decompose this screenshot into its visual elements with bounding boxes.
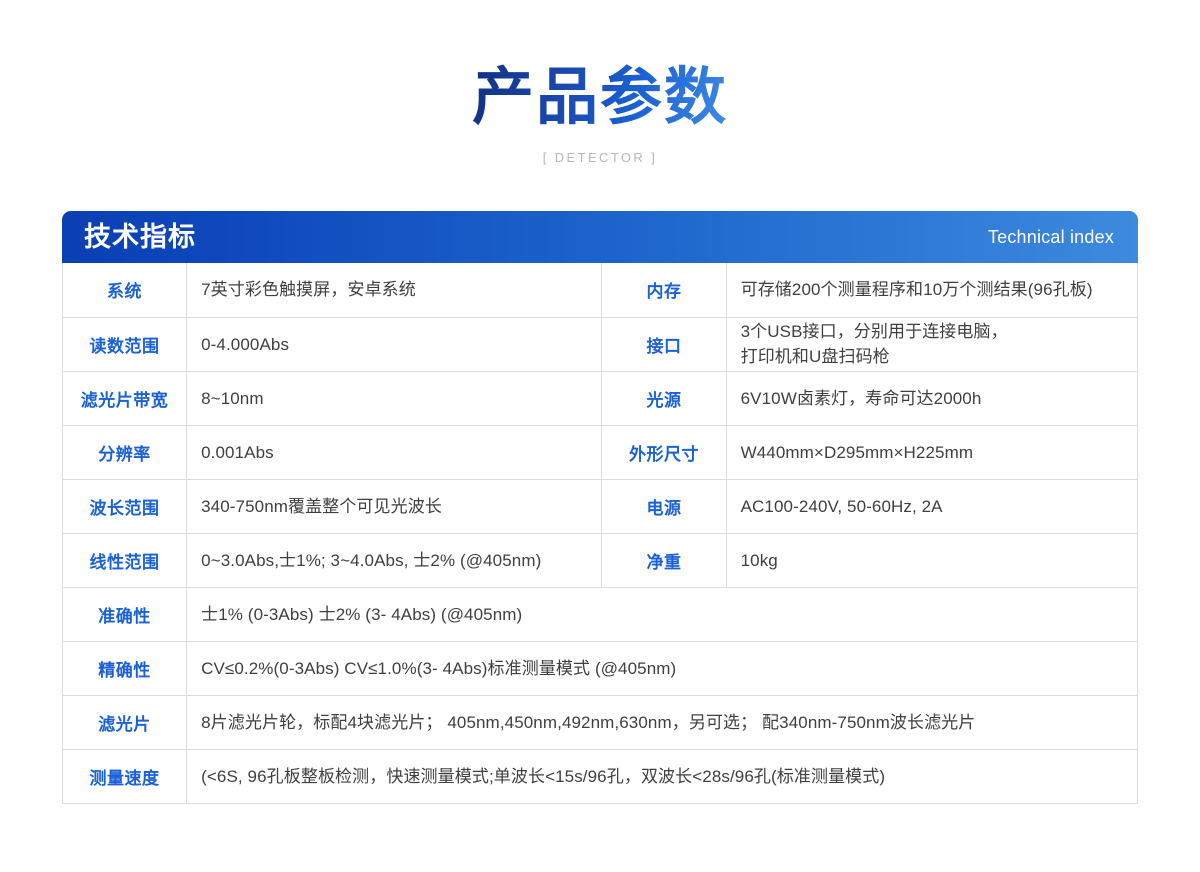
spec-key-full: 滤光片 [63, 695, 187, 749]
spec-value-line: 3个USB接口，分别用于连接电脑， [741, 319, 1137, 344]
table-row: 滤光片8片滤光片轮，标配4块滤光片； 405nm,450nm,492nm,630… [63, 695, 1138, 749]
banner-title-cn: 技术指标 [84, 222, 196, 252]
table-row: 准确性士1% (0-3Abs) 士2% (3- 4Abs) (@405nm) [63, 587, 1138, 641]
spec-value-line: CV≤0.2%(0-3Abs) CV≤1.0%(3- 4Abs)标准测量模式 (… [201, 656, 1137, 681]
page-heading: 产品参数 [ DETECTOR ] [0, 0, 1200, 166]
table-row: 滤光片带宽8~10nm光源6V10W卤素灯，寿命可达2000h [63, 371, 1138, 425]
spec-key-right: 净重 [602, 533, 726, 587]
spec-key-right: 光源 [602, 371, 726, 425]
page-title: 产品参数 [472, 62, 728, 134]
spec-value-line: 0~3.0Abs,士1%; 3~4.0Abs, 士2% (@405nm) [201, 548, 601, 573]
spec-table: 系统7英寸彩色触摸屏，安卓系统内存可存储200个测量程序和10万个测结果(96孔… [62, 263, 1138, 804]
spec-value-left: 8~10nm [187, 371, 602, 425]
spec-value-left: 7英寸彩色触摸屏，安卓系统 [187, 263, 602, 317]
spec-value-full: 士1% (0-3Abs) 士2% (3- 4Abs) (@405nm) [187, 587, 1138, 641]
spec-value-left: 0~3.0Abs,士1%; 3~4.0Abs, 士2% (@405nm) [187, 533, 602, 587]
table-row: 精确性CV≤0.2%(0-3Abs) CV≤1.0%(3- 4Abs)标准测量模… [63, 641, 1138, 695]
spec-value-full: 8片滤光片轮，标配4块滤光片； 405nm,450nm,492nm,630nm，… [187, 695, 1138, 749]
spec-key-left: 滤光片带宽 [63, 371, 187, 425]
spec-value-line: 士1% (0-3Abs) 士2% (3- 4Abs) (@405nm) [201, 602, 1137, 627]
table-row: 测量速度(<6S, 96孔板整板检测，快速测量模式;单波长<15s/96孔，双波… [63, 749, 1138, 803]
spec-value-right: 可存储200个测量程序和10万个测结果(96孔板) [726, 263, 1137, 317]
spec-value-full: (<6S, 96孔板整板检测，快速测量模式;单波长<15s/96孔，双波长<28… [187, 749, 1138, 803]
spec-value-line: W440mm×D295mm×H225mm [741, 440, 1137, 465]
spec-key-left: 分辨率 [63, 425, 187, 479]
spec-value-line: 可存储200个测量程序和10万个测结果(96孔板) [741, 277, 1137, 302]
spec-value-line: 340-750nm覆盖整个可见光波长 [201, 494, 601, 519]
spec-key-left: 读数范围 [63, 317, 187, 371]
spec-key-right: 内存 [602, 263, 726, 317]
table-row: 分辨率0.001Abs外形尺寸W440mm×D295mm×H225mm [63, 425, 1138, 479]
spec-value-line: 8~10nm [201, 386, 601, 411]
table-row: 读数范围0-4.000Abs接口3个USB接口，分别用于连接电脑，打印机和U盘扫… [63, 317, 1138, 371]
spec-table-banner: 技术指标 Technical index [62, 211, 1138, 263]
spec-key-right: 电源 [602, 479, 726, 533]
spec-value-line: (<6S, 96孔板整板检测，快速测量模式;单波长<15s/96孔，双波长<28… [201, 764, 1137, 789]
spec-value-left: 0-4.000Abs [187, 317, 602, 371]
table-row: 系统7英寸彩色触摸屏，安卓系统内存可存储200个测量程序和10万个测结果(96孔… [63, 263, 1138, 317]
spec-value-right: 3个USB接口，分别用于连接电脑，打印机和U盘扫码枪 [726, 317, 1137, 371]
spec-value-right: AC100-240V, 50-60Hz, 2A [726, 479, 1137, 533]
spec-value-line: 6V10W卤素灯，寿命可达2000h [741, 386, 1137, 411]
spec-value-right: 6V10W卤素灯，寿命可达2000h [726, 371, 1137, 425]
spec-key-full: 准确性 [63, 587, 187, 641]
spec-table-body: 系统7英寸彩色触摸屏，安卓系统内存可存储200个测量程序和10万个测结果(96孔… [63, 263, 1138, 803]
spec-value-line: AC100-240V, 50-60Hz, 2A [741, 494, 1137, 519]
spec-value-right: 10kg [726, 533, 1137, 587]
product-spec-page: 产品参数 [ DETECTOR ] 技术指标 Technical index 系… [0, 0, 1200, 872]
spec-key-full: 精确性 [63, 641, 187, 695]
spec-value-line: 打印机和U盘扫码枪 [741, 344, 1137, 369]
spec-value-line: 0.001Abs [201, 440, 601, 465]
table-row: 线性范围0~3.0Abs,士1%; 3~4.0Abs, 士2% (@405nm)… [63, 533, 1138, 587]
page-subtitle: [ DETECTOR ] [0, 150, 1200, 166]
table-row: 波长范围340-750nm覆盖整个可见光波长电源AC100-240V, 50-6… [63, 479, 1138, 533]
spec-value-line: 7英寸彩色触摸屏，安卓系统 [201, 277, 601, 302]
spec-key-left: 系统 [63, 263, 187, 317]
spec-value-line: 0-4.000Abs [201, 332, 601, 357]
spec-value-left: 0.001Abs [187, 425, 602, 479]
spec-value-line: 10kg [741, 548, 1137, 573]
spec-value-right: W440mm×D295mm×H225mm [726, 425, 1137, 479]
banner-title-en: Technical index [988, 226, 1114, 248]
spec-value-line: 8片滤光片轮，标配4块滤光片； 405nm,450nm,492nm,630nm，… [201, 710, 1137, 735]
spec-table-container: 技术指标 Technical index 系统7英寸彩色触摸屏，安卓系统内存可存… [62, 211, 1138, 804]
spec-key-right: 外形尺寸 [602, 425, 726, 479]
spec-value-left: 340-750nm覆盖整个可见光波长 [187, 479, 602, 533]
spec-key-full: 测量速度 [63, 749, 187, 803]
spec-key-left: 线性范围 [63, 533, 187, 587]
spec-key-left: 波长范围 [63, 479, 187, 533]
spec-value-full: CV≤0.2%(0-3Abs) CV≤1.0%(3- 4Abs)标准测量模式 (… [187, 641, 1138, 695]
spec-key-right: 接口 [602, 317, 726, 371]
